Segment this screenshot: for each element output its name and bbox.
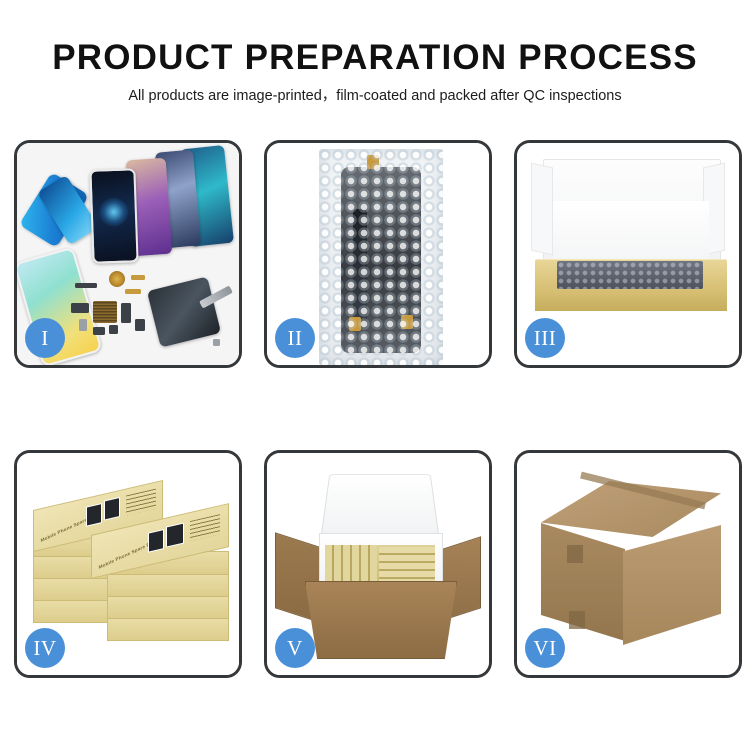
- part-speaker-coil: [109, 271, 125, 287]
- inner-boxes-left: [325, 545, 377, 587]
- part-screw-plate: [109, 325, 118, 334]
- page-subtitle: All products are image-printed，film-coat…: [0, 89, 750, 104]
- step-badge-5: V: [275, 628, 315, 668]
- wrapped-flex-cable: [353, 209, 367, 329]
- bubble-wrapped-contents: [557, 261, 703, 289]
- step-panel-6: VI: [514, 450, 742, 678]
- part-camera-module: [121, 303, 131, 323]
- part-bracket: [135, 319, 145, 331]
- part-chip-grid: [93, 301, 117, 323]
- box-spec-lines: [190, 514, 220, 541]
- bubble-wrap-bag: [319, 149, 443, 365]
- yellow-box-front: [535, 289, 727, 311]
- phone-screen-black: [89, 168, 138, 264]
- page-title: PRODUCT PREPARATION PROCESS: [0, 40, 750, 75]
- gold-tab-right: [401, 315, 413, 329]
- carton-seal-lower: [569, 611, 585, 629]
- box-lid-flap-left: [531, 163, 553, 256]
- gold-tab-top: [367, 155, 379, 169]
- step-panel-4: Mobile Phone Spare Parts Mobile Phone Sp…: [14, 450, 242, 678]
- step-badge-2: II: [275, 318, 315, 358]
- box-photo: [104, 497, 120, 521]
- step-panel-2: II: [264, 140, 492, 368]
- box-photo: [166, 522, 184, 547]
- box-spec-lines: [126, 489, 156, 516]
- box-photo: [86, 503, 102, 527]
- process-steps-grid: I II III: [14, 140, 742, 678]
- part-button: [93, 327, 105, 335]
- carton-body: [305, 581, 457, 659]
- step-badge-3: III: [525, 318, 565, 358]
- step-panel-5: V: [264, 450, 492, 678]
- part-gold-contact: [125, 289, 141, 294]
- carton-seal-upper: [567, 545, 583, 563]
- stacked-box: [107, 617, 229, 641]
- box-photo: [148, 529, 164, 553]
- gold-tab-left: [349, 317, 361, 331]
- step-badge-4: IV: [25, 628, 65, 668]
- header: PRODUCT PREPARATION PROCESS All products…: [0, 0, 750, 104]
- step-panel-1: I: [14, 140, 242, 368]
- stacked-box: [107, 595, 229, 619]
- part-gold-clip: [131, 275, 145, 280]
- stacked-box: [107, 573, 229, 597]
- part-sim-tray: [79, 319, 87, 331]
- step-panel-3: III: [514, 140, 742, 368]
- foam-insert: [553, 201, 709, 265]
- carton-right-face: [623, 525, 721, 645]
- part-screw: [213, 339, 220, 346]
- part-connector-bar: [75, 283, 97, 288]
- part-flex-cable: [71, 303, 89, 313]
- step-badge-6: VI: [525, 628, 565, 668]
- foam-box-lid: [320, 474, 440, 541]
- step-badge-1: I: [25, 318, 65, 358]
